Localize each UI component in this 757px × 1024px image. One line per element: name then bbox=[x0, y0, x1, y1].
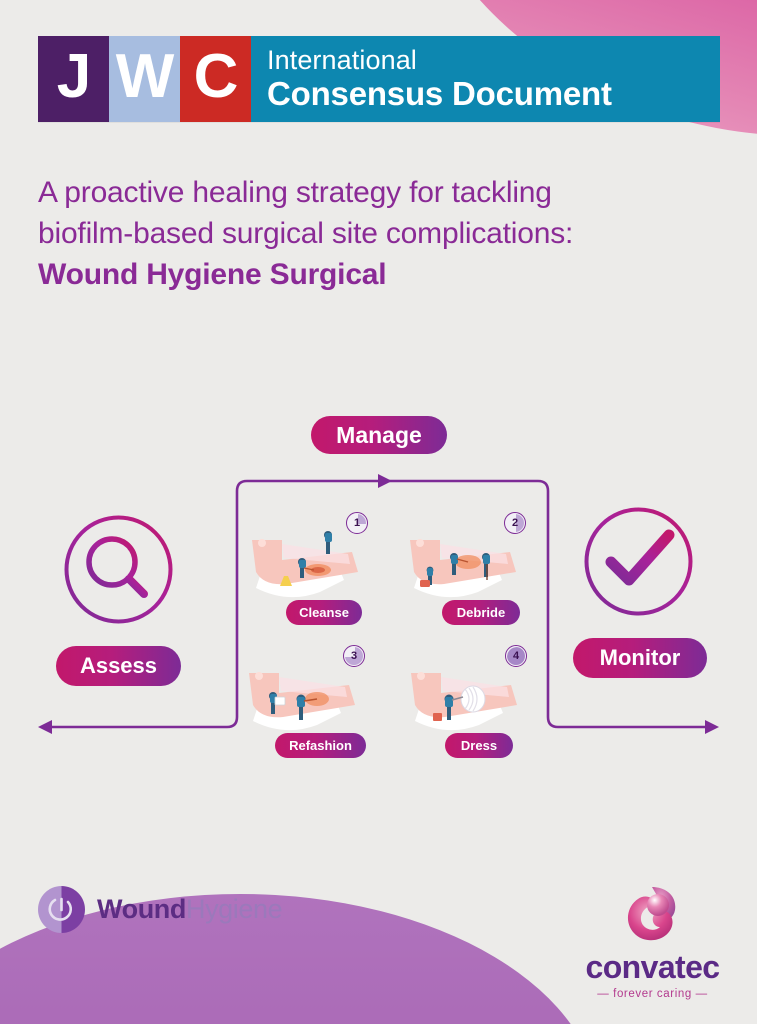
assess-label: Assess bbox=[56, 646, 181, 686]
step-badge-4: 4 bbox=[505, 645, 527, 667]
step-card-1[interactable]: 1 Cleanse bbox=[248, 510, 368, 620]
page-title: A proactive healing strategy for tacklin… bbox=[38, 172, 718, 295]
convatec-logo: convatec — forever caring — bbox=[565, 885, 740, 1000]
jwc-letter-w: W bbox=[109, 36, 180, 122]
step-label-1: Cleanse bbox=[286, 600, 362, 625]
step-number-3: 3 bbox=[351, 650, 357, 662]
step-badge-2: 2 bbox=[504, 512, 526, 534]
arrow-top bbox=[378, 474, 392, 488]
step-number-2: 2 bbox=[512, 517, 518, 529]
wound-hygiene-word-light: Hygiene bbox=[186, 894, 282, 924]
step-card-3[interactable]: 3 Refashion bbox=[245, 643, 365, 753]
step-number-1: 1 bbox=[354, 517, 360, 529]
assess-icon-circle bbox=[61, 512, 176, 627]
arrow-left bbox=[38, 720, 52, 734]
document-page: J W C International Consensus Document A… bbox=[0, 0, 757, 1024]
convatec-swirl-icon bbox=[565, 885, 740, 947]
monitor-label: Monitor bbox=[573, 638, 707, 678]
header-subtitle: International bbox=[267, 46, 720, 74]
arrow-right bbox=[705, 720, 719, 734]
step-card-4[interactable]: 4 Dress bbox=[407, 643, 527, 753]
step-label-3: Refashion bbox=[275, 733, 366, 758]
wound-hygiene-circle-icon bbox=[38, 886, 85, 933]
manage-label: Manage bbox=[311, 416, 447, 454]
monitor-icon-circle bbox=[581, 504, 696, 619]
wound-hygiene-logo: WoundHygiene bbox=[38, 886, 282, 933]
page-title-line2: biofilm-based surgical site complication… bbox=[38, 213, 718, 254]
wound-hygiene-flow-diagram: Manage Assess Monitor bbox=[0, 400, 757, 790]
header-banner: International Consensus Document bbox=[251, 36, 720, 122]
jwc-logo: J W C bbox=[38, 36, 251, 122]
jwc-letter-c: C bbox=[180, 36, 251, 122]
step-badge-3: 3 bbox=[343, 645, 365, 667]
header-title: Consensus Document bbox=[267, 76, 720, 112]
page-title-line1: A proactive healing strategy for tacklin… bbox=[38, 172, 718, 213]
check-icon bbox=[581, 504, 696, 619]
page-title-line3: Wound Hygiene Surgical bbox=[38, 254, 718, 295]
wound-hygiene-word-bold: Wound bbox=[97, 894, 186, 924]
convatec-wordmark: convatec bbox=[565, 951, 740, 983]
jwc-header-band: J W C International Consensus Document bbox=[38, 36, 720, 122]
wound-hygiene-wordmark: WoundHygiene bbox=[97, 894, 282, 925]
step-label-2: Debride bbox=[442, 600, 520, 625]
step-label-4: Dress bbox=[445, 733, 513, 758]
step-card-2[interactable]: 2 Debride bbox=[406, 510, 526, 620]
step-number-4: 4 bbox=[513, 650, 519, 662]
jwc-letter-j: J bbox=[38, 36, 109, 122]
step-badge-1: 1 bbox=[346, 512, 368, 534]
convatec-tagline: — forever caring — bbox=[565, 988, 740, 1000]
magnifier-icon bbox=[61, 512, 176, 627]
